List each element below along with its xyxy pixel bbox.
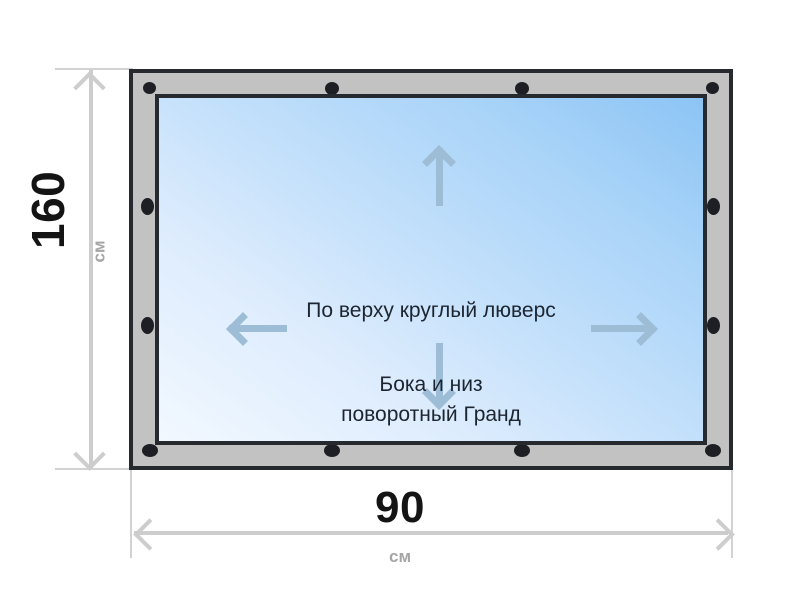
grommet-right-2: [707, 317, 720, 334]
height-arrow-up-icon: [73, 71, 106, 104]
grommet-left-1: [141, 198, 154, 215]
direction-arrow-up-icon: [424, 142, 454, 206]
width-value-label: 90: [0, 486, 800, 530]
grommet-bottom-2: [324, 444, 340, 457]
diagram-canvas: 160 см 90 см: [0, 0, 800, 600]
height-unit-label: см: [91, 235, 108, 269]
extension-line-top: [55, 68, 133, 70]
height-dimension-line: [89, 70, 93, 468]
width-dimension-line: [134, 531, 728, 535]
height-arrow-down-icon: [73, 438, 106, 471]
side-bottom-label: Бока и низ поворотный Гранд: [159, 370, 703, 430]
extension-line-middle: [55, 468, 133, 470]
curtain-panel: По верху круглый люверс Бока и низ повор…: [155, 94, 707, 445]
grommet-bottom-4: [705, 444, 721, 457]
grommet-top-4: [706, 82, 719, 94]
grommet-left-2: [141, 317, 154, 334]
grommet-bottom-1: [142, 444, 158, 457]
top-grommet-label: По верху круглый люверс: [159, 296, 703, 326]
grommet-right-1: [707, 198, 720, 215]
grommet-top-1: [143, 82, 156, 94]
height-value-label: 160: [25, 189, 71, 249]
grommet-bottom-3: [514, 444, 530, 457]
width-unit-label: см: [0, 548, 800, 565]
curtain-frame: По верху круглый люверс Бока и низ повор…: [129, 69, 733, 470]
